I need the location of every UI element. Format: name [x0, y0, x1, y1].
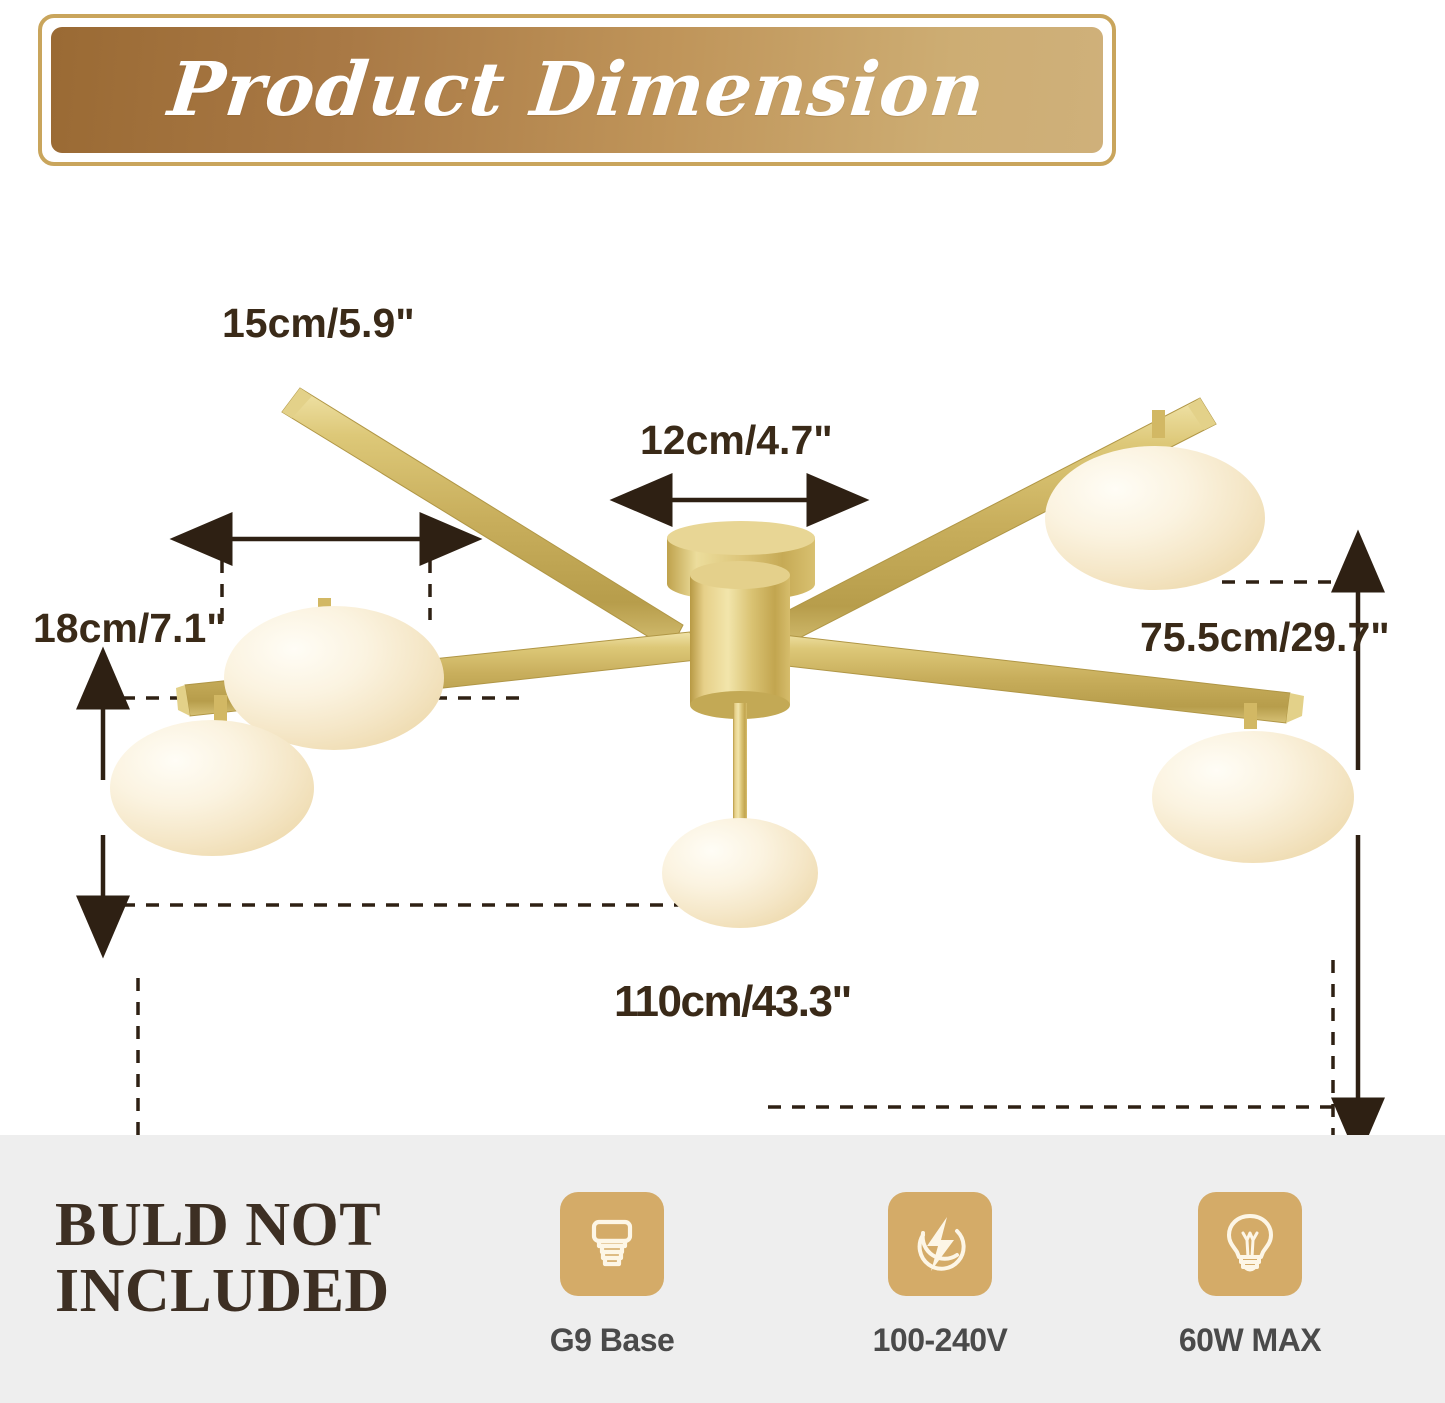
spec-g9-base: G9 Base: [512, 1192, 712, 1359]
page-title: Product Dimension: [165, 47, 990, 133]
globe-upper-right: [1045, 410, 1265, 590]
spec-label: 100-240V: [873, 1322, 1008, 1359]
light-bulb-icon: [1198, 1192, 1302, 1296]
banner-gradient-panel: Product Dimension: [51, 27, 1103, 153]
dimension-label-total-height: 75.5cm/29.7": [1140, 617, 1390, 658]
globe-lower-right: [1152, 703, 1354, 863]
center-hub: [667, 521, 815, 848]
globe-center: [662, 818, 818, 928]
spec-wattage: 60W MAX: [1150, 1192, 1350, 1359]
spec-label: 60W MAX: [1179, 1322, 1321, 1359]
lightning-bolt-icon: [888, 1192, 992, 1296]
dimension-label-shade-width: 15cm/5.9": [222, 303, 415, 344]
bulb-base-icon: [560, 1192, 664, 1296]
notice-line-1: BULD NOT: [55, 1192, 475, 1258]
dimension-canopy-width: [663, 480, 816, 520]
dimension-label-total-width: 110cm/43.3": [604, 980, 861, 1024]
bulb-not-included-notice: BULD NOT INCLUDED: [55, 1192, 475, 1325]
dimension-label-canopy-width: 12cm/4.7": [640, 420, 833, 461]
dimension-label-tier-offset: 18cm/7.1": [33, 608, 226, 649]
notice-line-2: INCLUDED: [55, 1258, 475, 1324]
spec-label: G9 Base: [550, 1322, 675, 1359]
product-dimension-banner: Product Dimension: [38, 14, 1116, 166]
spec-voltage: 100-240V: [840, 1192, 1040, 1359]
